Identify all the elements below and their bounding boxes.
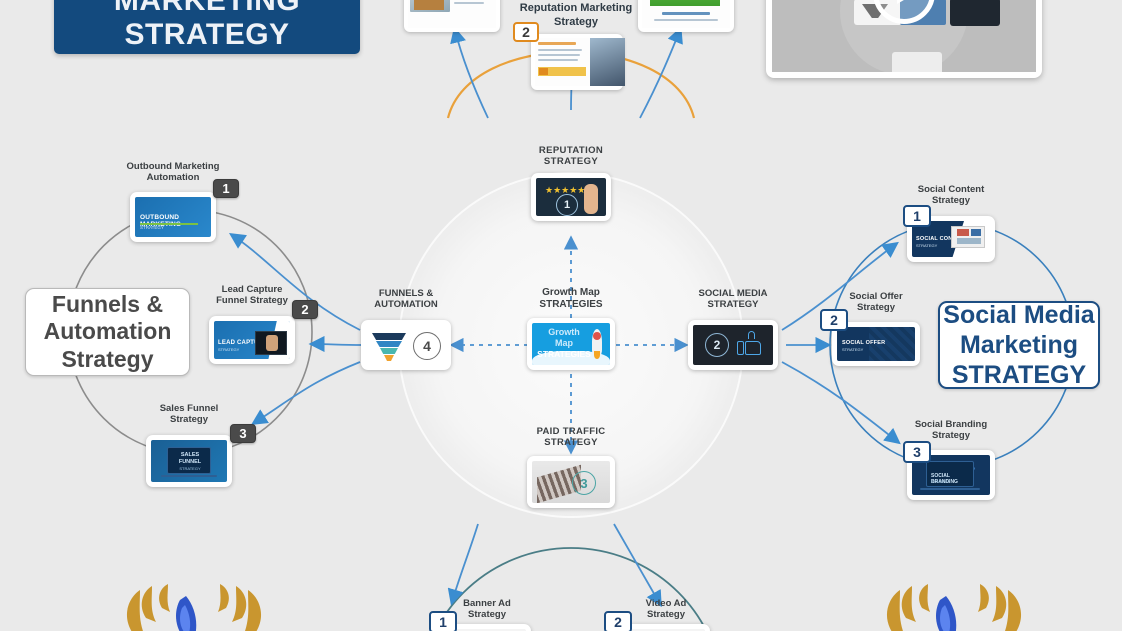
funnels-automation-caption: FUNNELS & AUTOMATION xyxy=(336,288,476,310)
award-wreath-right-icon xyxy=(866,578,1042,631)
outbound-slide-sub: STRATEGY xyxy=(140,226,164,231)
social-media-marketing-strategy-title: Social Media Marketing STRATEGY xyxy=(938,301,1100,389)
video-thumbnail xyxy=(772,0,1036,72)
reputation-strategy-thumb[interactable]: ★★★★★ 1 xyxy=(531,173,611,221)
top-left-slide-card[interactable] xyxy=(404,0,500,32)
video-ad-thumb[interactable] xyxy=(622,624,710,631)
social-media-number: 2 xyxy=(705,333,729,357)
badge-reputation-marketing-2[interactable]: 2 xyxy=(513,22,539,42)
badge-social-content-1[interactable]: 1 xyxy=(903,205,931,227)
reputation-marketing-slide-art xyxy=(535,38,619,86)
badge-outbound-1[interactable]: 1 xyxy=(213,179,239,198)
rocket-icon xyxy=(592,329,602,355)
top-right-slide-card[interactable] xyxy=(638,0,734,32)
marketing-strategy-banner: MARKETING STRATEGY xyxy=(54,0,360,54)
funnels-automation-strategy-title: Funnels & Automation Strategy xyxy=(25,288,190,376)
paid-traffic-number: 3 xyxy=(572,471,596,495)
badge-sales-funnel-3[interactable]: 3 xyxy=(230,424,256,443)
play-triangle-icon xyxy=(897,0,916,4)
funnel-icon xyxy=(372,333,406,359)
growth-map-slide-line-1: Growth xyxy=(538,327,590,337)
growth-map-slide-line-2: Map xyxy=(538,338,590,348)
social-content-slide-sub: STRATEGY xyxy=(916,244,937,248)
social-media-strategy-thumb[interactable]: 2 xyxy=(688,320,778,370)
banner-line-2: STRATEGY xyxy=(124,18,289,52)
sales-funnel-thumb[interactable]: SALES FUNNEL STRATEGY xyxy=(146,435,232,487)
social-content-caption: Social Content Strategy xyxy=(876,184,1026,206)
lead-capture-slide-sub: STRATEGY xyxy=(218,348,239,352)
social-branding-slide-sub: STRATEGY xyxy=(931,480,950,484)
badge-video-ad-2[interactable]: 2 xyxy=(604,611,632,631)
badge-social-offer-2[interactable]: 2 xyxy=(820,309,848,331)
growth-map-thumb[interactable]: Growth Map STRATEGIES xyxy=(527,318,615,370)
lead-capture-thumb[interactable]: LEAD CAPTURE STRATEGY xyxy=(209,316,295,364)
award-wreath-left-icon xyxy=(106,578,282,631)
reputation-strategy-caption: REPUTATION STRATEGY xyxy=(496,145,646,167)
funnels-automation-thumb[interactable]: 4 xyxy=(361,320,451,370)
reputation-marketing-slide-card[interactable] xyxy=(531,34,623,90)
strategy-overview-video-card[interactable] xyxy=(766,0,1042,78)
reputation-number: 1 xyxy=(556,194,578,216)
badge-social-branding-3[interactable]: 3 xyxy=(903,441,931,463)
social-offer-slide-sub: STRATEGY xyxy=(842,348,863,352)
social-media-strategy-caption: SOCIAL MEDIA STRATEGY xyxy=(658,288,808,310)
paid-traffic-caption: PAID TRAFFIC STRATEGY xyxy=(496,426,646,448)
sales-funnel-slide-sub: STRATEGY xyxy=(174,466,206,471)
outbound-marketing-thumb[interactable]: OUTBOUND MARKETING STRATEGY xyxy=(130,192,216,242)
top-left-slide-art xyxy=(408,0,496,28)
badge-lead-capture-2[interactable]: 2 xyxy=(292,300,318,319)
sales-funnel-caption: Sales Funnel Strategy xyxy=(114,403,264,425)
top-right-slide-art xyxy=(642,0,730,28)
paid-traffic-thumb[interactable]: 3 xyxy=(527,456,615,508)
banner-line-1: MARKETING xyxy=(114,0,300,18)
funnels-automation-number: 4 xyxy=(413,332,441,360)
social-offer-slide-title: SOCIAL OFFER xyxy=(842,341,885,347)
growth-map-slide-line-3: STRATEGIES xyxy=(534,349,594,359)
sales-funnel-slide-title: SALES FUNNEL xyxy=(174,452,206,465)
growth-map-caption: Growth Map STRATEGIES xyxy=(496,287,646,311)
thumbs-up-icon xyxy=(737,333,761,355)
social-branding-caption: Social Branding Strategy xyxy=(876,419,1026,441)
badge-banner-ad-1[interactable]: 1 xyxy=(429,611,457,631)
strategy-mindmap-canvas: MARKETING STRATEGY Reputation Marketing … xyxy=(0,0,1122,631)
